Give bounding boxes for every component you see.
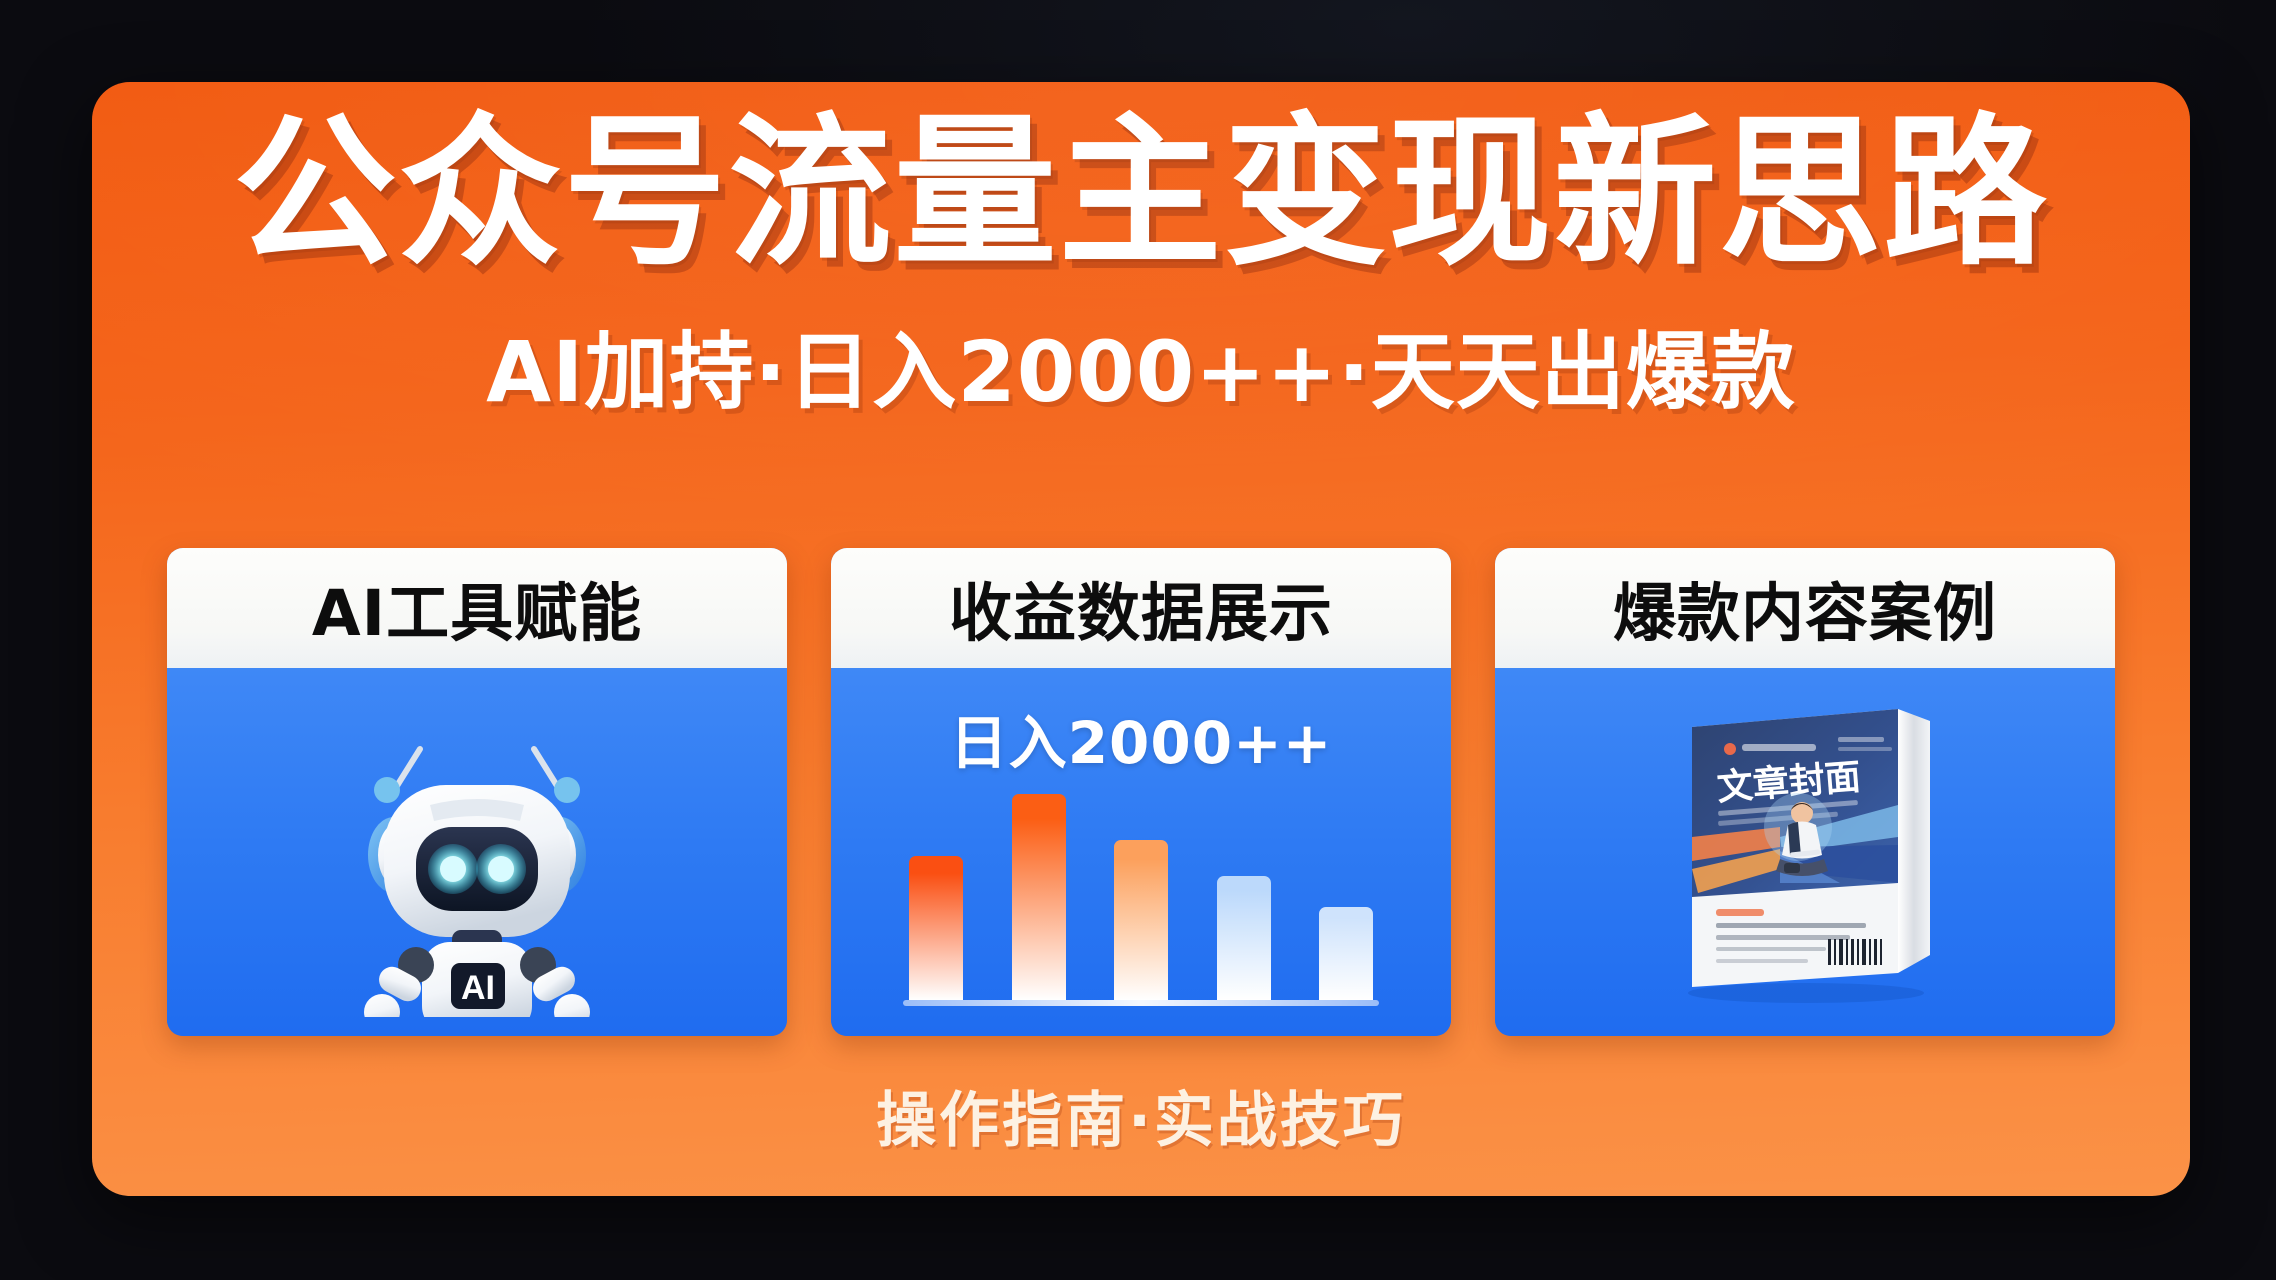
page-subtitle: AI加持·日入2000++·天天出爆款 [92,330,2190,414]
poster-footer-note: 操作指南·实战技巧 [92,1072,2190,1159]
bar-4 [1319,907,1373,1000]
card-title: AI工具赋能 [312,563,642,654]
bar-series [909,778,1373,1000]
bar-1 [1012,794,1066,1000]
svg-text:AI: AI [461,969,495,1007]
chart-title: 日入2000++ [831,696,1451,780]
bar-2 [1114,840,1168,1000]
chart-axis-line [903,1000,1379,1006]
feature-card-earnings[interactable]: 收益数据展示 日入2000++ [831,548,1451,1036]
page-title: 公众号流量主变现新思路 [92,112,2190,275]
card-title: 收益数据展示 [949,563,1333,654]
feature-card-ai-tools[interactable]: AI工具赋能 [167,548,787,1036]
feature-card-row: AI工具赋能 [167,548,2115,1036]
feature-card-hot-content[interactable]: 爆款内容案例 [1495,548,2115,1036]
article-cover-book-icon: 文章封面 [1630,687,1980,1017]
ai-robot-icon: AI [312,687,642,1017]
bar-0 [909,856,963,1000]
card-header: 收益数据展示 [831,548,1451,668]
card-visual-chart: 日入2000++ [831,668,1451,1036]
poster-canvas: 公众号流量主变现新思路 AI加持·日入2000++·天天出爆款 AI工具赋能 [0,0,2276,1280]
bar-chart [909,776,1373,1006]
card-header: 爆款内容案例 [1495,548,2115,668]
card-title: 爆款内容案例 [1613,563,1997,654]
card-visual-book: 文章封面 [1495,668,2115,1036]
card-visual-robot: AI [167,668,787,1036]
orange-poster-panel: 公众号流量主变现新思路 AI加持·日入2000++·天天出爆款 AI工具赋能 [92,82,2190,1196]
card-header: AI工具赋能 [167,548,787,668]
bar-3 [1217,876,1271,1000]
